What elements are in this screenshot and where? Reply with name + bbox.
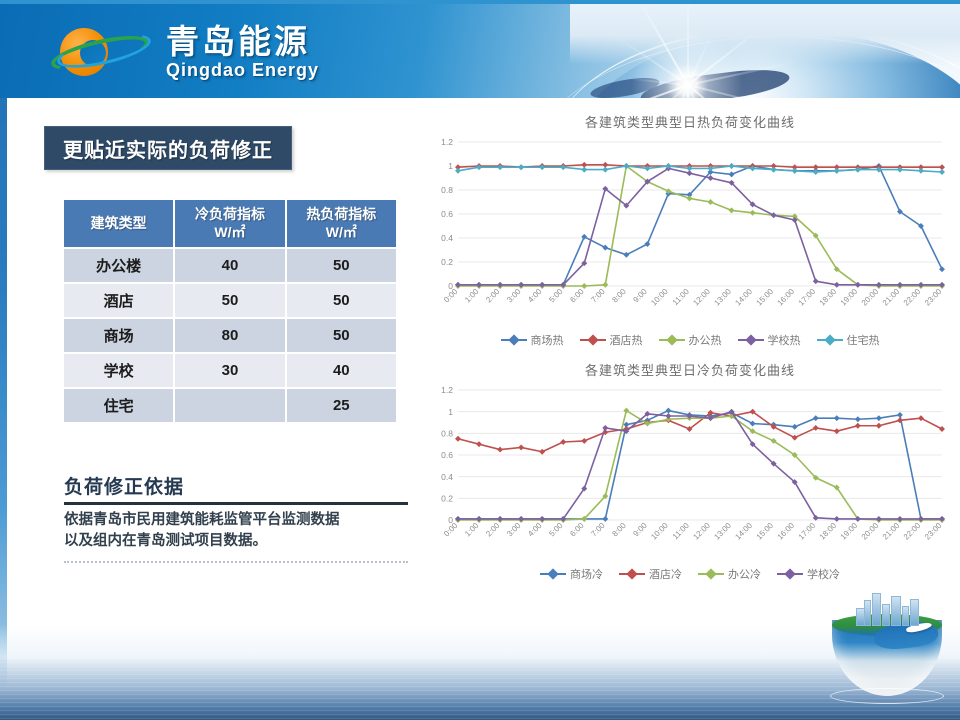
data-point bbox=[750, 421, 756, 427]
y-axis-tick-label: 0.4 bbox=[441, 472, 453, 482]
slide-canvas: 青岛能源 Qingdao Energy 更贴近实际的负荷修正 建筑类型 冷负荷指… bbox=[0, 0, 960, 720]
sunburst-icon bbox=[612, 10, 762, 98]
cool-chart-legend: 商场冷酒店冷办公冷学校冷 bbox=[432, 566, 948, 582]
logo-wordmark: 青岛能源 Qingdao Energy bbox=[166, 25, 319, 79]
legend-swatch bbox=[659, 339, 685, 341]
x-axis-tick-label: 2:00 bbox=[484, 521, 502, 539]
x-axis-tick-label: 13:00 bbox=[712, 287, 733, 308]
basis-body-line-1: 依据青岛市民用建筑能耗监管平台监测数据 bbox=[64, 510, 408, 531]
x-axis-tick-label: 5:00 bbox=[547, 521, 565, 539]
data-point bbox=[518, 164, 524, 170]
eco-earth-graphic bbox=[828, 592, 946, 704]
data-point bbox=[602, 425, 608, 431]
x-axis-tick-label: 1:00 bbox=[463, 521, 481, 539]
slide-header: 青岛能源 Qingdao Energy bbox=[0, 0, 960, 98]
data-point bbox=[708, 199, 714, 205]
data-point bbox=[560, 439, 566, 445]
legend-label: 办公冷 bbox=[728, 566, 761, 582]
series-line bbox=[458, 411, 942, 519]
data-point bbox=[876, 415, 882, 421]
data-point bbox=[497, 516, 503, 522]
cell-cooling-value: 80 bbox=[175, 319, 284, 352]
cell-cooling-value: 50 bbox=[175, 284, 284, 317]
series-住宅热 bbox=[455, 163, 945, 175]
cell-building-type: 酒店 bbox=[64, 284, 173, 317]
cell-building-type: 住宅 bbox=[64, 389, 173, 422]
cool-chart-plot-area: 00.20.40.60.811.20:001:002:003:004:005:0… bbox=[432, 382, 948, 564]
cell-building-type: 商场 bbox=[64, 319, 173, 352]
data-point bbox=[455, 436, 461, 442]
series-商场热 bbox=[455, 163, 945, 288]
left-edge-strip bbox=[0, 0, 7, 720]
table-header-row: 建筑类型 冷负荷指标 W/㎡ 热负荷指标 W/㎡ bbox=[64, 200, 396, 247]
x-axis-tick-label: 14:00 bbox=[733, 287, 754, 308]
cell-heating-value: 40 bbox=[287, 354, 396, 387]
data-point bbox=[876, 516, 882, 522]
legend-marker bbox=[745, 334, 756, 345]
legend-label: 酒店冷 bbox=[649, 566, 682, 582]
cell-cooling-value bbox=[175, 389, 284, 422]
data-point bbox=[750, 210, 756, 216]
data-point bbox=[476, 516, 482, 522]
legend-marker bbox=[705, 568, 716, 579]
cell-cooling-value: 40 bbox=[175, 249, 284, 282]
x-axis-tick-label: 8:00 bbox=[610, 521, 628, 539]
y-axis-tick-label: 1.2 bbox=[441, 385, 453, 395]
heat-chart-legend: 商场热酒店热办公热学校热住宅热 bbox=[432, 332, 948, 348]
cell-heating-value: 25 bbox=[287, 389, 396, 422]
x-axis-tick-label: 11:00 bbox=[671, 287, 691, 307]
data-point bbox=[813, 425, 819, 431]
table-body: 办公楼4050酒店5050商场8050学校3040住宅25 bbox=[64, 249, 396, 422]
data-point bbox=[834, 516, 840, 522]
table-row: 学校3040 bbox=[64, 354, 396, 387]
basis-block: 负荷修正依据 依据青岛市民用建筑能耗监管平台监测数据 以及组内在青岛测试项目数据… bbox=[64, 472, 408, 563]
sun-ray bbox=[687, 30, 714, 85]
table-header-building-type: 建筑类型 bbox=[64, 200, 173, 247]
legend-item[interactable]: 商场冷 bbox=[540, 566, 603, 582]
data-point bbox=[813, 415, 819, 421]
legend-label: 酒店热 bbox=[610, 332, 643, 348]
data-point bbox=[918, 168, 924, 174]
y-axis-tick-label: 0.8 bbox=[441, 185, 453, 195]
x-axis-tick-label: 16:00 bbox=[776, 287, 797, 308]
sun-ray bbox=[629, 0, 689, 86]
table-header-cooling-index: 冷负荷指标 W/㎡ bbox=[175, 200, 284, 247]
section-title-text: 更贴近实际的负荷修正 bbox=[63, 134, 273, 163]
x-axis-tick-label: 11:00 bbox=[671, 521, 691, 541]
data-point bbox=[602, 516, 608, 522]
heat-load-chart: 各建筑类型典型日热负荷变化曲线 00.20.40.60.811.20:001:0… bbox=[432, 112, 948, 356]
data-point bbox=[602, 245, 608, 251]
legend-marker bbox=[626, 568, 637, 579]
x-axis-tick-label: 12:00 bbox=[691, 287, 712, 308]
data-point bbox=[834, 168, 840, 174]
earth-reflection-ring bbox=[830, 688, 944, 704]
x-axis-tick-label: 12:00 bbox=[691, 521, 712, 542]
data-point bbox=[813, 278, 819, 284]
logo-emblem-icon bbox=[50, 24, 154, 80]
logo-name-cn: 青岛能源 bbox=[166, 25, 319, 58]
data-point bbox=[939, 169, 945, 175]
x-axis-tick-label: 19:00 bbox=[839, 521, 860, 542]
x-axis-tick-label: 6:00 bbox=[568, 287, 586, 305]
city-skyline-icon bbox=[856, 592, 922, 626]
section-title-banner: 更贴近实际的负荷修正 bbox=[44, 126, 292, 170]
x-axis-tick-label: 1:00 bbox=[463, 287, 481, 305]
data-point bbox=[771, 212, 777, 218]
x-axis-tick-label: 17:00 bbox=[797, 521, 818, 542]
basis-body: 依据青岛市民用建筑能耗监管平台监测数据 以及组内在青岛测试项目数据。 bbox=[64, 510, 408, 552]
table-row: 商场8050 bbox=[64, 319, 396, 352]
series-line bbox=[458, 168, 942, 284]
data-point bbox=[518, 444, 524, 450]
sun-ray bbox=[687, 0, 689, 85]
data-point bbox=[476, 441, 482, 447]
data-point bbox=[623, 252, 629, 258]
x-axis-tick-label: 6:00 bbox=[568, 521, 586, 539]
company-logo: 青岛能源 Qingdao Energy bbox=[50, 24, 319, 80]
x-axis-tick-label: 20:00 bbox=[860, 287, 881, 308]
x-axis-tick-label: 13:00 bbox=[712, 521, 733, 542]
building-shape bbox=[902, 606, 909, 626]
cooling-index-unit: W/㎡ bbox=[177, 224, 282, 242]
heating-index-unit: W/㎡ bbox=[289, 224, 394, 242]
legend-label: 商场冷 bbox=[570, 566, 603, 582]
legend-swatch bbox=[738, 339, 764, 341]
legend-swatch bbox=[501, 339, 527, 341]
data-point bbox=[687, 195, 693, 201]
x-axis-tick-label: 16:00 bbox=[776, 521, 797, 542]
data-point bbox=[939, 426, 945, 432]
x-axis-tick-label: 22:00 bbox=[902, 287, 923, 308]
data-point bbox=[581, 167, 587, 173]
x-axis-tick-label: 18:00 bbox=[818, 521, 839, 542]
header-top-rule bbox=[0, 0, 960, 4]
legend-item[interactable]: 酒店冷 bbox=[619, 566, 682, 582]
heat-chart-title: 各建筑类型典型日热负荷变化曲线 bbox=[432, 112, 948, 134]
sun-ray bbox=[601, 84, 689, 98]
x-axis-tick-label: 21:00 bbox=[881, 521, 902, 542]
x-axis-tick-label: 10:00 bbox=[649, 287, 670, 308]
x-axis-tick-label: 20:00 bbox=[860, 521, 881, 542]
data-point bbox=[918, 516, 924, 522]
x-axis-tick-label: 10:00 bbox=[649, 521, 670, 542]
x-axis-tick-label: 3:00 bbox=[505, 521, 523, 539]
x-axis-tick-label: 14:00 bbox=[733, 521, 754, 542]
data-point bbox=[792, 435, 798, 441]
x-axis-tick-label: 9:00 bbox=[631, 287, 649, 305]
data-point bbox=[792, 424, 798, 430]
series-商场冷 bbox=[455, 408, 945, 522]
x-axis-tick-label: 4:00 bbox=[526, 521, 544, 539]
series-line bbox=[458, 166, 942, 285]
data-point bbox=[602, 282, 608, 288]
basis-body-line-2: 以及组内在青岛测试项目数据。 bbox=[64, 531, 408, 552]
y-axis-tick-label: 0.6 bbox=[441, 450, 453, 460]
cell-building-type: 学校 bbox=[64, 354, 173, 387]
y-axis-tick-label: 1 bbox=[448, 407, 453, 417]
legend-label: 住宅热 bbox=[847, 332, 880, 348]
legend-swatch bbox=[698, 573, 724, 575]
cooling-index-label: 冷负荷指标 bbox=[177, 206, 282, 224]
cool-chart-title: 各建筑类型典型日冷负荷变化曲线 bbox=[432, 360, 948, 382]
x-axis-tick-label: 7:00 bbox=[589, 521, 607, 539]
series-办公冷 bbox=[455, 408, 945, 523]
series-line bbox=[458, 412, 942, 519]
x-axis-tick-label: 15:00 bbox=[755, 287, 776, 308]
x-axis-tick-label: 2:00 bbox=[484, 287, 502, 305]
building-shape bbox=[872, 593, 881, 626]
x-axis-tick-label: 18:00 bbox=[818, 287, 839, 308]
legend-marker bbox=[587, 334, 598, 345]
data-point bbox=[792, 168, 798, 174]
legend-marker bbox=[784, 568, 795, 579]
legend-label: 学校热 bbox=[768, 332, 801, 348]
data-point bbox=[455, 168, 461, 174]
legend-label: 办公热 bbox=[689, 332, 722, 348]
building-shape bbox=[891, 596, 901, 626]
legend-swatch bbox=[580, 339, 606, 341]
heat-chart-svg: 00.20.40.60.811.20:001:002:003:004:005:0… bbox=[432, 134, 948, 330]
cell-cooling-value: 30 bbox=[175, 354, 284, 387]
cell-heating-value: 50 bbox=[287, 249, 396, 282]
series-办公热 bbox=[455, 163, 945, 289]
data-point bbox=[539, 449, 545, 455]
data-point bbox=[834, 282, 840, 288]
data-point bbox=[834, 415, 840, 421]
x-axis-tick-label: 5:00 bbox=[547, 287, 565, 305]
x-axis-tick-label: 9:00 bbox=[631, 521, 649, 539]
data-point bbox=[455, 516, 461, 522]
x-axis-tick-label: 3:00 bbox=[505, 287, 523, 305]
legend-swatch bbox=[817, 339, 843, 341]
y-axis-tick-label: 0.6 bbox=[441, 209, 453, 219]
data-point bbox=[602, 167, 608, 173]
water-ripples bbox=[0, 658, 960, 720]
legend-swatch bbox=[777, 573, 803, 575]
cool-chart-svg: 00.20.40.60.811.20:001:002:003:004:005:0… bbox=[432, 382, 948, 564]
data-point bbox=[581, 438, 587, 444]
legend-item[interactable]: 办公热 bbox=[659, 332, 722, 348]
x-axis-tick-label: 23:00 bbox=[923, 521, 944, 542]
logo-name-en: Qingdao Energy bbox=[166, 61, 319, 79]
x-axis-tick-label: 0:00 bbox=[442, 521, 460, 539]
legend-label: 商场热 bbox=[531, 332, 564, 348]
x-axis-tick-label: 8:00 bbox=[610, 287, 628, 305]
x-axis-tick-label: 21:00 bbox=[881, 287, 902, 308]
legend-item[interactable]: 办公冷 bbox=[698, 566, 761, 582]
data-point bbox=[665, 413, 671, 419]
x-axis-tick-label: 7:00 bbox=[589, 287, 607, 305]
load-index-table: 建筑类型 冷负荷指标 W/㎡ 热负荷指标 W/㎡ 办公楼4050酒店5050商场… bbox=[62, 198, 398, 424]
building-shape bbox=[864, 600, 871, 626]
legend-marker bbox=[666, 334, 677, 345]
y-axis-tick-label: 0.2 bbox=[441, 494, 453, 504]
data-point bbox=[729, 207, 735, 213]
legend-swatch bbox=[540, 573, 566, 575]
x-axis-tick-label: 4:00 bbox=[526, 287, 544, 305]
data-point bbox=[918, 415, 924, 421]
table-row: 酒店5050 bbox=[64, 284, 396, 317]
legend-swatch bbox=[619, 573, 645, 575]
data-point bbox=[518, 516, 524, 522]
basis-divider bbox=[64, 502, 408, 505]
data-point bbox=[897, 412, 903, 418]
data-point bbox=[539, 516, 545, 522]
data-point bbox=[876, 423, 882, 429]
legend-item[interactable]: 学校热 bbox=[738, 332, 801, 348]
legend-marker bbox=[547, 568, 558, 579]
data-point bbox=[729, 171, 735, 177]
y-axis-tick-label: 1.2 bbox=[441, 137, 453, 147]
cool-load-chart: 各建筑类型典型日冷负荷变化曲线 00.20.40.60.811.20:001:0… bbox=[432, 360, 948, 588]
legend-marker bbox=[508, 334, 519, 345]
x-axis-tick-label: 22:00 bbox=[902, 521, 923, 542]
data-point bbox=[855, 423, 861, 429]
y-axis-tick-label: 0.4 bbox=[441, 233, 453, 243]
data-point bbox=[939, 266, 945, 272]
building-shape bbox=[910, 599, 919, 626]
legend-item[interactable]: 商场热 bbox=[501, 332, 564, 348]
series-line bbox=[458, 411, 942, 520]
data-point bbox=[581, 234, 587, 240]
cell-building-type: 办公楼 bbox=[64, 249, 173, 282]
legend-item[interactable]: 学校冷 bbox=[777, 566, 840, 582]
table-row: 住宅25 bbox=[64, 389, 396, 422]
data-point bbox=[855, 416, 861, 422]
data-point bbox=[644, 241, 650, 247]
heat-chart-plot-area: 00.20.40.60.811.20:001:002:003:004:005:0… bbox=[432, 134, 948, 330]
data-point bbox=[729, 163, 735, 169]
data-point bbox=[771, 167, 777, 173]
data-point bbox=[665, 408, 671, 414]
table-header-heating-index: 热负荷指标 W/㎡ bbox=[287, 200, 396, 247]
data-point bbox=[939, 516, 945, 522]
table-row: 办公楼4050 bbox=[64, 249, 396, 282]
x-axis-tick-label: 0:00 bbox=[442, 287, 460, 305]
building-shape bbox=[882, 604, 890, 626]
data-point bbox=[497, 447, 503, 453]
data-point bbox=[708, 175, 714, 181]
heating-index-label: 热负荷指标 bbox=[289, 206, 394, 224]
y-axis-tick-label: 0.8 bbox=[441, 429, 453, 439]
y-axis-tick-label: 1 bbox=[448, 161, 453, 171]
y-axis-tick-label: 0.2 bbox=[441, 257, 453, 267]
legend-item[interactable]: 住宅热 bbox=[817, 332, 880, 348]
data-point bbox=[897, 516, 903, 522]
data-point bbox=[581, 283, 587, 289]
basis-heading: 负荷修正依据 bbox=[64, 472, 408, 502]
x-axis-tick-label: 17:00 bbox=[797, 287, 818, 308]
cell-heating-value: 50 bbox=[287, 319, 396, 352]
legend-marker bbox=[824, 334, 835, 345]
x-axis-tick-label: 15:00 bbox=[755, 521, 776, 542]
legend-label: 学校冷 bbox=[807, 566, 840, 582]
legend-item[interactable]: 酒店热 bbox=[580, 332, 643, 348]
x-axis-tick-label: 23:00 bbox=[923, 287, 944, 308]
basis-dotted-rule bbox=[64, 561, 408, 563]
sun-ray bbox=[614, 35, 688, 86]
water-background bbox=[0, 624, 960, 720]
x-axis-tick-label: 19:00 bbox=[839, 287, 860, 308]
cell-heating-value: 50 bbox=[287, 284, 396, 317]
